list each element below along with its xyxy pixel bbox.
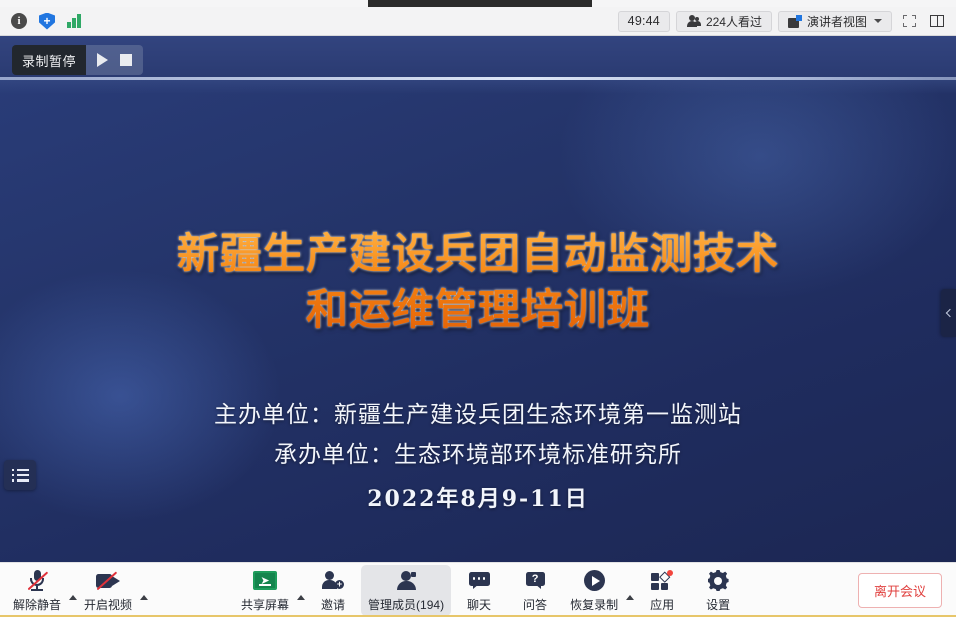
security-shield-icon[interactable]: + xyxy=(37,11,57,31)
viewers-count-label: 224人看过 xyxy=(706,13,762,30)
slide-list-toggle[interactable] xyxy=(4,460,36,490)
top-status-icons: i + xyxy=(0,11,85,31)
toolbar-item-unmute[interactable]: 解除静音 xyxy=(6,565,68,616)
recording-stop-icon[interactable] xyxy=(120,54,132,66)
list-icon xyxy=(12,469,29,482)
qa-icon: ? xyxy=(526,570,545,592)
meeting-timer: 49:44 xyxy=(618,11,670,32)
recording-control-group: 录制暂停 xyxy=(12,45,143,75)
camera-off-icon xyxy=(96,570,120,592)
leave-meeting-button[interactable]: 离开会议 xyxy=(858,573,942,608)
microphone-muted-icon xyxy=(27,570,47,592)
toolbar-item-start-video[interactable]: 开启视频 xyxy=(77,565,139,616)
toolbar-label-share-screen: 共享屏幕 xyxy=(241,596,289,613)
toolbar-label-invite: 邀请 xyxy=(321,596,345,613)
settings-gear-icon xyxy=(708,570,729,592)
toolbar-label-qa: 问答 xyxy=(523,596,547,613)
recording-status-label: 录制暂停 xyxy=(12,45,86,75)
toolbar-item-invite[interactable]: + 邀请 xyxy=(305,565,361,616)
recording-options-chevron-icon[interactable] xyxy=(626,595,634,600)
slide-date-line: 2022年8月9-11日 xyxy=(0,481,956,519)
slide-band-shadow xyxy=(0,80,956,94)
recording-play-icon[interactable] xyxy=(97,53,108,67)
toolbar-main-group: ➤ 共享屏幕 + 邀请 管理成员(194) xyxy=(234,565,746,616)
chevron-left-icon xyxy=(945,309,953,317)
split-view-icon xyxy=(930,15,944,27)
toolbar-item-qa[interactable]: ? 问答 xyxy=(507,565,563,616)
shared-slide-stage: 录制暂停 新疆生产建设兵团自动监测技术 和运维管理培训班 主办单位：新疆生产建设… xyxy=(0,36,956,562)
presenter-view-icon xyxy=(788,15,802,28)
toolbar-label-chat: 聊天 xyxy=(467,596,491,613)
toolbar-label-resume-recording: 恢复录制 xyxy=(570,596,618,613)
toolbar-item-resume-recording[interactable]: 恢复录制 xyxy=(563,565,625,616)
network-signal-icon[interactable] xyxy=(65,11,85,31)
slide-host-line: 承办单位：生态环境部环境标准研究所 xyxy=(0,436,956,476)
share-options-chevron-icon[interactable] xyxy=(297,595,305,600)
toolbar-item-apps[interactable]: 应用 xyxy=(634,565,690,616)
share-screen-icon: ➤ xyxy=(253,570,277,592)
fullscreen-icon xyxy=(903,15,916,27)
apps-notification-badge xyxy=(667,570,673,576)
view-mode-dropdown[interactable]: 演讲者视图 xyxy=(778,11,892,32)
toolbar-label-start-video: 开启视频 xyxy=(84,596,132,613)
toolbar-label-manage-members: 管理成员(194) xyxy=(368,596,444,613)
top-toolbar: i + 49:44 224人看过 xyxy=(0,7,956,36)
top-right-controls: 49:44 224人看过 演讲者视图 xyxy=(618,11,956,32)
meeting-window: i + 49:44 224人看过 xyxy=(0,0,956,617)
slide-top-band xyxy=(0,36,956,77)
recording-buttons xyxy=(86,45,143,75)
toolbar-left-group: 解除静音 开启视频 xyxy=(0,565,148,616)
slide-subtitle-block: 主办单位：新疆生产建设兵团生态环境第一监测站 承办单位：生态环境部环境标准研究所… xyxy=(0,396,956,519)
chevron-down-icon xyxy=(874,19,882,23)
video-options-chevron-icon[interactable] xyxy=(140,595,148,600)
window-title-edge xyxy=(368,0,592,7)
info-icon[interactable]: i xyxy=(9,11,29,31)
toolbar-label-settings: 设置 xyxy=(706,596,730,613)
shield-plus-glyph: + xyxy=(39,13,55,30)
toolbar-item-chat[interactable]: 聊天 xyxy=(451,565,507,616)
toolbar-item-settings[interactable]: 设置 xyxy=(690,565,746,616)
slide-title: 新疆生产建设兵团自动监测技术 和运维管理培训班 xyxy=(0,226,956,339)
manage-members-icon xyxy=(396,570,417,592)
panel-collapse-toggle[interactable] xyxy=(941,289,956,337)
toolbar-item-share-screen[interactable]: ➤ 共享屏幕 xyxy=(234,565,296,616)
viewers-count-button[interactable]: 224人看过 xyxy=(676,11,772,32)
chat-icon xyxy=(469,570,490,592)
toolbar-item-manage-members[interactable]: 管理成员(194) xyxy=(361,565,451,616)
info-icon-glyph: i xyxy=(11,13,27,29)
toolbar-right-group: 离开会议 xyxy=(858,573,956,608)
window-edge-right xyxy=(592,0,956,7)
view-mode-label: 演讲者视图 xyxy=(807,13,867,30)
fullscreen-button[interactable] xyxy=(898,11,920,32)
invite-person-icon: + xyxy=(322,570,344,592)
window-edge-left xyxy=(0,0,368,7)
audio-options-chevron-icon[interactable] xyxy=(69,595,77,600)
toolbar-label-apps: 应用 xyxy=(650,596,674,613)
people-icon xyxy=(686,15,701,27)
bottom-toolbar: 解除静音 开启视频 xyxy=(0,562,956,617)
slide-organizer-line: 主办单位：新疆生产建设兵团生态环境第一监测站 xyxy=(0,396,956,436)
apps-icon xyxy=(651,570,673,592)
resume-recording-icon xyxy=(584,570,605,592)
toolbar-label-unmute: 解除静音 xyxy=(13,596,61,613)
split-view-button[interactable] xyxy=(926,11,948,32)
